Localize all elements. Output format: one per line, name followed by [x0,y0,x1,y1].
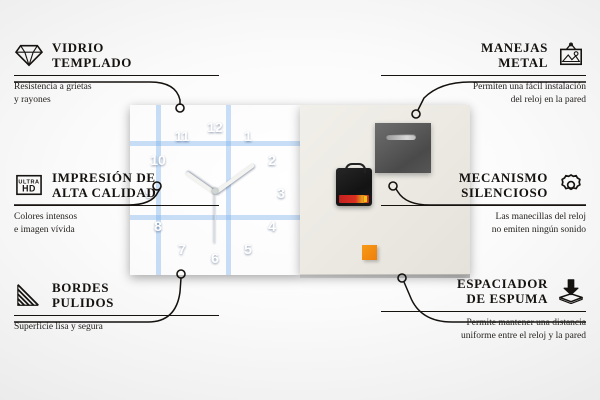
metal-hanger-plate [375,123,431,173]
foam-spacer-arrow-icon [556,278,586,304]
battery-terminal [364,196,367,202]
callout-manejas-metal[interactable]: MANEJAS METAL Permiten una fácil instala… [381,40,586,106]
battery [339,195,369,203]
callout-heading: BORDES PULIDOS [14,280,219,311]
callout-bordes-pulidos[interactable]: BORDES PULIDOS Superficie lisa y segura [14,280,219,334]
callout-description: Permite mantener una distancia uniforme … [381,317,586,342]
clock-minute-hand [214,163,255,194]
svg-text:HD: HD [22,184,36,194]
clock-numeral: 10 [150,153,166,167]
gear-icon [556,172,586,198]
hanger-slot [386,134,416,140]
callout-heading: ultra HD IMPRESIÓN DE ALTA CALIDAD [14,170,219,201]
clock-numeral: 11 [175,129,190,143]
callout-title: BORDES PULIDOS [52,280,114,311]
callout-vidrio-templado[interactable]: VIDRIO TEMPLADO Resistencia a grietas y … [14,40,219,106]
callout-heading: MECANISMO SILENCIOSO [381,170,586,201]
callout-heading: VIDRIO TEMPLADO [14,40,219,71]
clock-numeral: 2 [268,153,276,167]
clock-numeral: 1 [244,129,252,143]
callout-mecanismo-silencioso[interactable]: MECANISMO SILENCIOSO Las manecillas del … [381,170,586,236]
infographic-canvas: 12 1 2 3 4 5 6 7 8 9 10 11 [0,0,600,400]
callout-divider [381,311,586,313]
callout-divider [381,75,586,77]
callout-description: Superficie lisa y segura [14,321,219,334]
callout-impresion-alta-calidad[interactable]: ultra HD IMPRESIÓN DE ALTA CALIDAD Color… [14,170,219,236]
callout-divider [14,205,219,207]
callout-description: Colores intensos e imagen vívida [14,211,219,236]
polished-edge-icon [14,282,44,308]
clock-numeral: 6 [211,251,219,265]
picture-frame-hanger-icon [556,42,586,68]
clock-numeral: 7 [178,242,186,256]
callout-title: VIDRIO TEMPLADO [52,40,132,71]
foam-spacer [362,245,377,260]
clock-numeral: 3 [277,186,285,200]
print-mullion [130,141,300,146]
clock-mechanism [336,168,372,206]
print-mullion [226,105,231,275]
callout-heading: ESPACIADOR DE ESPUMA [381,276,586,307]
callout-espaciador-espuma[interactable]: ESPACIADOR DE ESPUMA Permite mantener un… [381,276,586,342]
ultra-hd-icon: ultra HD [14,172,44,198]
callout-title: MANEJAS METAL [481,40,548,71]
callout-description: Resistencia a grietas y rayones [14,81,219,106]
callout-divider [14,75,219,77]
callout-title: IMPRESIÓN DE ALTA CALIDAD [52,170,156,201]
callout-heading: MANEJAS METAL [381,40,586,71]
clock-numeral: 12 [207,120,223,134]
callout-divider [381,205,586,207]
callout-title: MECANISMO SILENCIOSO [459,170,548,201]
clock-numeral: 4 [268,219,276,233]
callout-description: Permiten una fácil instalación del reloj… [381,81,586,106]
clock-numeral: 5 [244,242,252,256]
mechanism-hanging-loop [345,163,366,173]
callout-divider [14,315,219,317]
callout-description: Las manecillas del reloj no emiten ningú… [381,211,586,236]
callout-title: ESPACIADOR DE ESPUMA [457,276,548,307]
diamond-icon [14,42,44,68]
